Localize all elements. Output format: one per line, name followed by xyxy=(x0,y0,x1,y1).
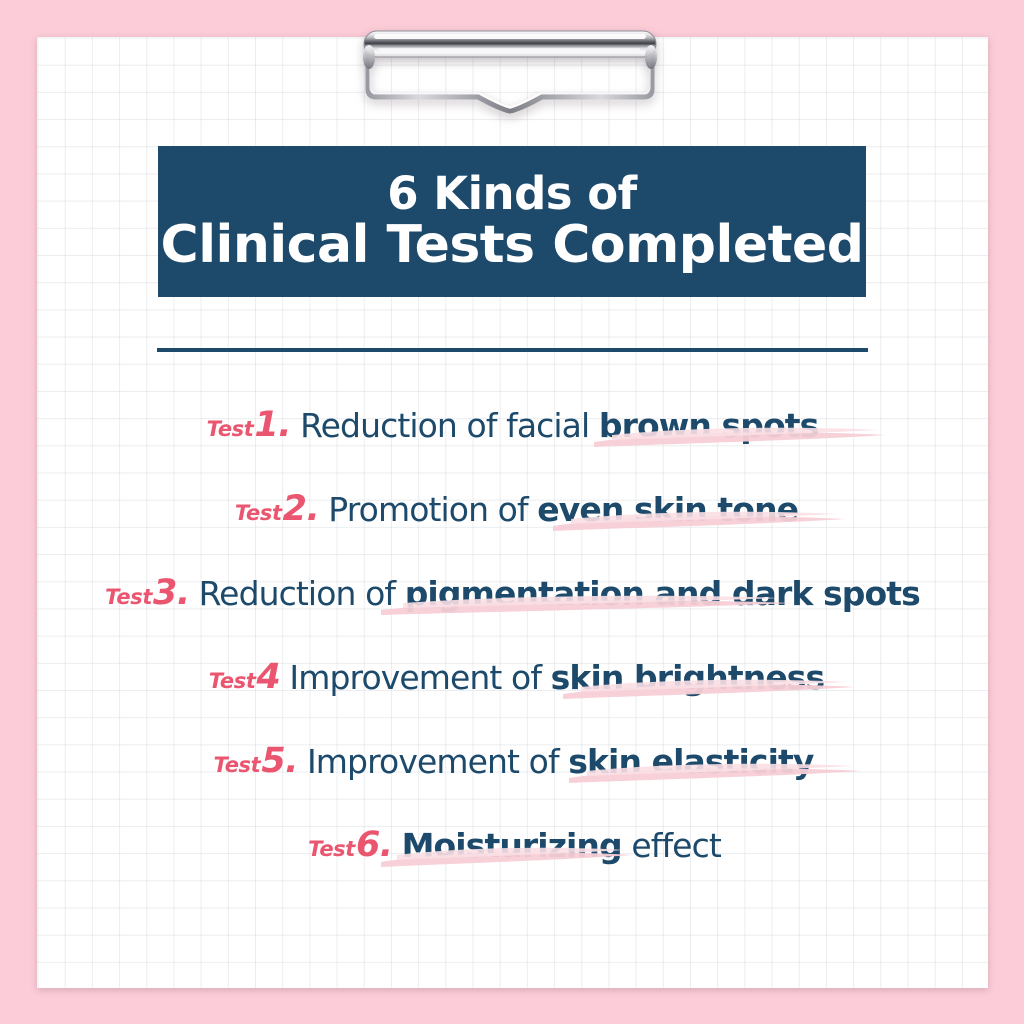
test-description-4: Improvement of skin brightness xyxy=(289,658,824,697)
test-number-5: 5. xyxy=(261,741,298,781)
test-prefix-2: Promotion of xyxy=(328,490,537,529)
test-highlight-4: skin brightness xyxy=(551,658,825,697)
test-description-1: Reduction of facial brown spots xyxy=(300,406,818,445)
test-suffix-6: effect xyxy=(622,826,721,865)
test-prefix-1: Reduction of facial xyxy=(300,406,599,445)
clinical-tests-list: Test1. Reduction of facial brown spots T… xyxy=(37,383,988,887)
test-description-6: Moisturizing effect xyxy=(402,826,721,865)
test-number-4: 4 xyxy=(257,657,281,697)
test-label-4: Test4 xyxy=(209,657,281,697)
test-label-3: Test3. xyxy=(105,573,189,613)
test-number-6: 6. xyxy=(356,825,393,865)
test-number-1: 1. xyxy=(254,405,291,445)
test-prefix-5: Improvement of xyxy=(307,742,568,781)
test-word-3: Test xyxy=(105,585,152,609)
test-item-2: Test2. Promotion of even skin tone xyxy=(37,467,988,551)
test-highlight-2: even skin tone xyxy=(537,490,798,529)
test-word-1: Test xyxy=(207,417,254,441)
title-line-2: Clinical Tests Completed xyxy=(161,218,864,272)
poster-root: 6 Kinds of Clinical Tests Completed Test… xyxy=(0,0,1024,1024)
test-item-4: Test4 Improvement of skin brightness xyxy=(37,635,988,719)
title-line-1: 6 Kinds of xyxy=(387,171,636,218)
title-banner: 6 Kinds of Clinical Tests Completed xyxy=(158,146,866,297)
section-divider xyxy=(157,348,868,352)
test-word-4: Test xyxy=(209,669,256,693)
test-description-2: Promotion of even skin tone xyxy=(328,490,798,529)
test-prefix-3: Reduction of xyxy=(199,574,405,613)
test-item-3: Test3. Reduction of pigmentation and dar… xyxy=(37,551,988,635)
test-label-2: Test2. xyxy=(235,489,319,529)
test-word-2: Test xyxy=(235,501,282,525)
test-word-6: Test xyxy=(308,837,355,861)
test-highlight-1: brown spots xyxy=(599,406,819,445)
test-highlight-6: Moisturizing xyxy=(402,826,622,865)
test-label-1: Test1. xyxy=(207,405,291,445)
test-label-5: Test5. xyxy=(214,741,298,781)
test-item-5: Test5. Improvement of skin elasticity xyxy=(37,719,988,803)
test-word-5: Test xyxy=(214,753,261,777)
test-description-3: Reduction of pigmentation and dark spots xyxy=(199,574,920,613)
test-label-6: Test6. xyxy=(308,825,392,865)
test-number-2: 2. xyxy=(283,489,320,529)
test-number-3: 3. xyxy=(153,573,190,613)
test-item-6: Test6. Moisturizing effect xyxy=(37,803,988,887)
clipboard-clip-icon xyxy=(352,27,668,115)
test-highlight-5: skin elasticity xyxy=(568,742,813,781)
grid-paper-card: 6 Kinds of Clinical Tests Completed Test… xyxy=(37,37,988,988)
test-highlight-3: pigmentation and dark spots xyxy=(405,574,920,613)
test-description-5: Improvement of skin elasticity xyxy=(307,742,814,781)
test-item-1: Test1. Reduction of facial brown spots xyxy=(37,383,988,467)
test-prefix-4: Improvement of xyxy=(289,658,550,697)
